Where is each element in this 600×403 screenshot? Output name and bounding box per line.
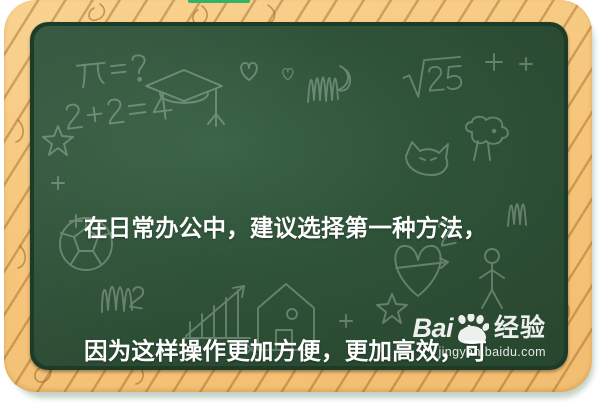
heart-small-icon	[241, 63, 257, 80]
graduation-cap-icon	[146, 70, 224, 126]
board-message-line: 因为这样操作更加方便，更加高效，可	[84, 331, 524, 366]
board-message-line: 在日常办公中，建议选择第一种方法，	[84, 208, 524, 249]
sqrt-twentyfive-icon	[402, 57, 463, 98]
pi-equals-question-icon	[76, 55, 146, 88]
chalkboard-scene: 在日常办公中，建议选择第一种方法， 因为这样操作更加方便，更加高效，可 以快速的…	[0, 0, 600, 403]
star-outline-icon	[43, 126, 73, 155]
heart-tiny-icon	[283, 69, 293, 80]
plus-small-left-icon	[52, 177, 64, 189]
two-plus-two-equals-four-icon	[65, 93, 172, 131]
scribble-lines-icon	[308, 66, 350, 102]
green-top-sliver	[188, 0, 250, 3]
plus-small-left2-icon	[70, 215, 82, 227]
chalkboard-surface: 在日常办公中，建议选择第一种方法， 因为这样操作更加方便，更加高效，可 以快速的…	[34, 26, 564, 366]
plus-signs-icon	[486, 54, 532, 70]
board-message: 在日常办公中，建议选择第一种方法， 因为这样操作更加方便，更加高效，可 以快速的…	[84, 126, 524, 366]
